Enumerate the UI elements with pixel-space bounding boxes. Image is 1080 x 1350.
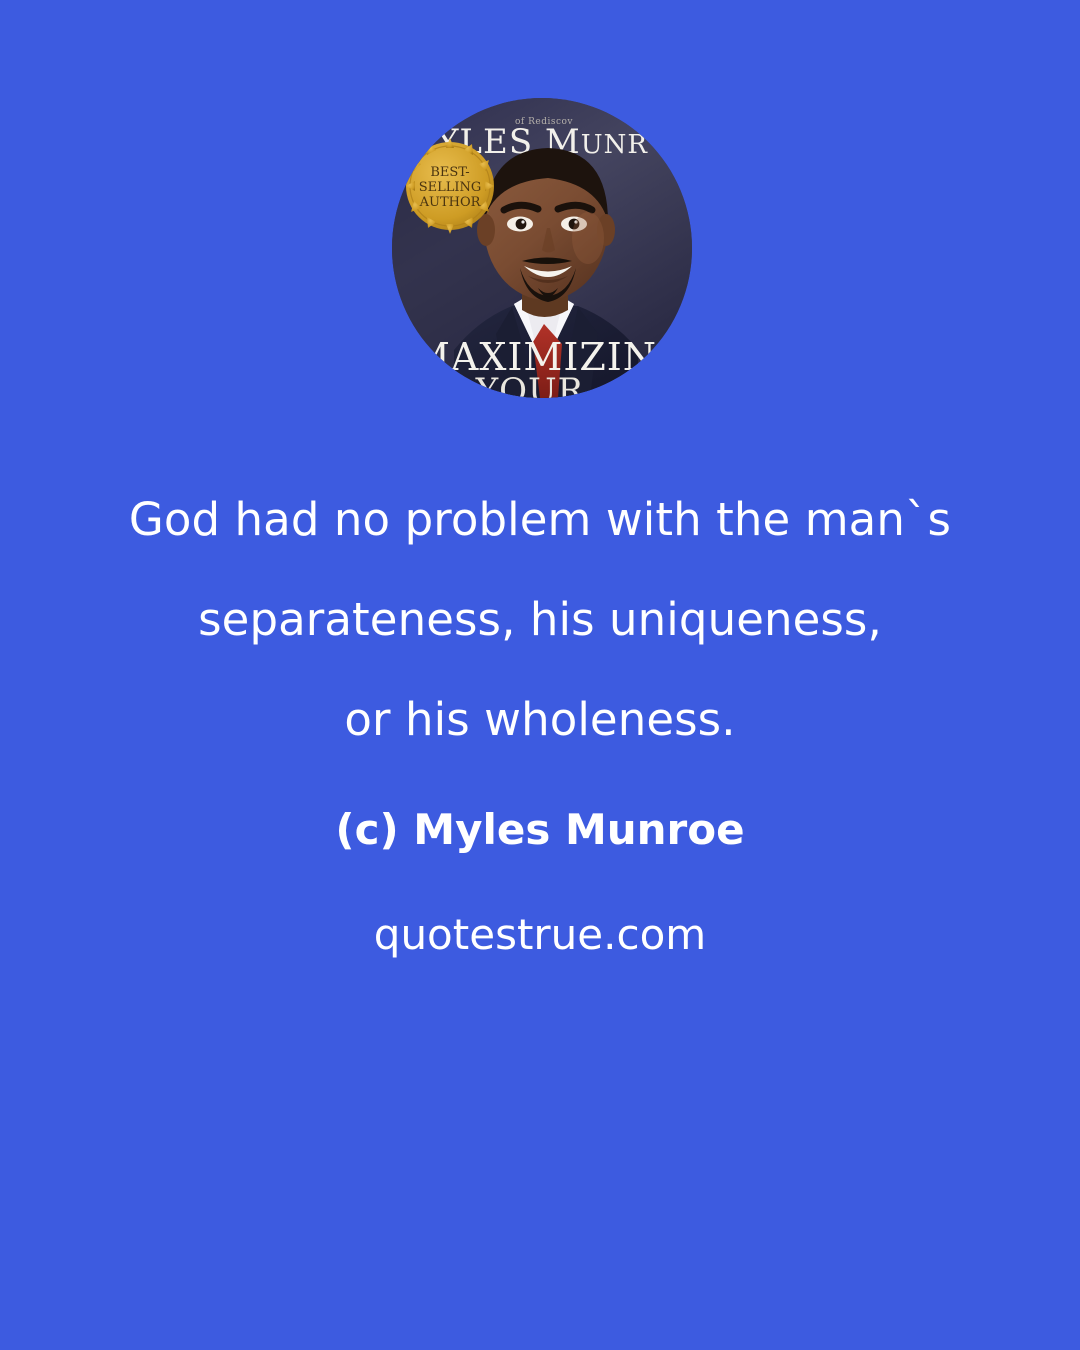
quote-line-2: separateness, his uniqueness, xyxy=(0,570,1080,670)
quote-attribution: (c) Myles Munroe xyxy=(0,780,1080,880)
book-cover-illustration: of Rediscov YLES MUNR xyxy=(392,98,692,398)
quote-card: of Rediscov YLES MUNR xyxy=(0,0,1080,1350)
svg-text:YOUR: YOUR xyxy=(475,371,585,398)
author-book-cover-avatar: of Rediscov YLES MUNR xyxy=(392,98,692,398)
quote-line-1: God had no problem with the man`s xyxy=(0,470,1080,570)
website-credit: quotestrue.com xyxy=(0,885,1080,985)
svg-text:AUTHOR: AUTHOR xyxy=(419,195,482,210)
quote-text-block: God had no problem with the man`s separa… xyxy=(0,470,1080,985)
svg-text:SELLING: SELLING xyxy=(419,180,482,195)
quote-line-3: or his wholeness. xyxy=(0,670,1080,770)
svg-text:BEST-: BEST- xyxy=(430,165,469,180)
